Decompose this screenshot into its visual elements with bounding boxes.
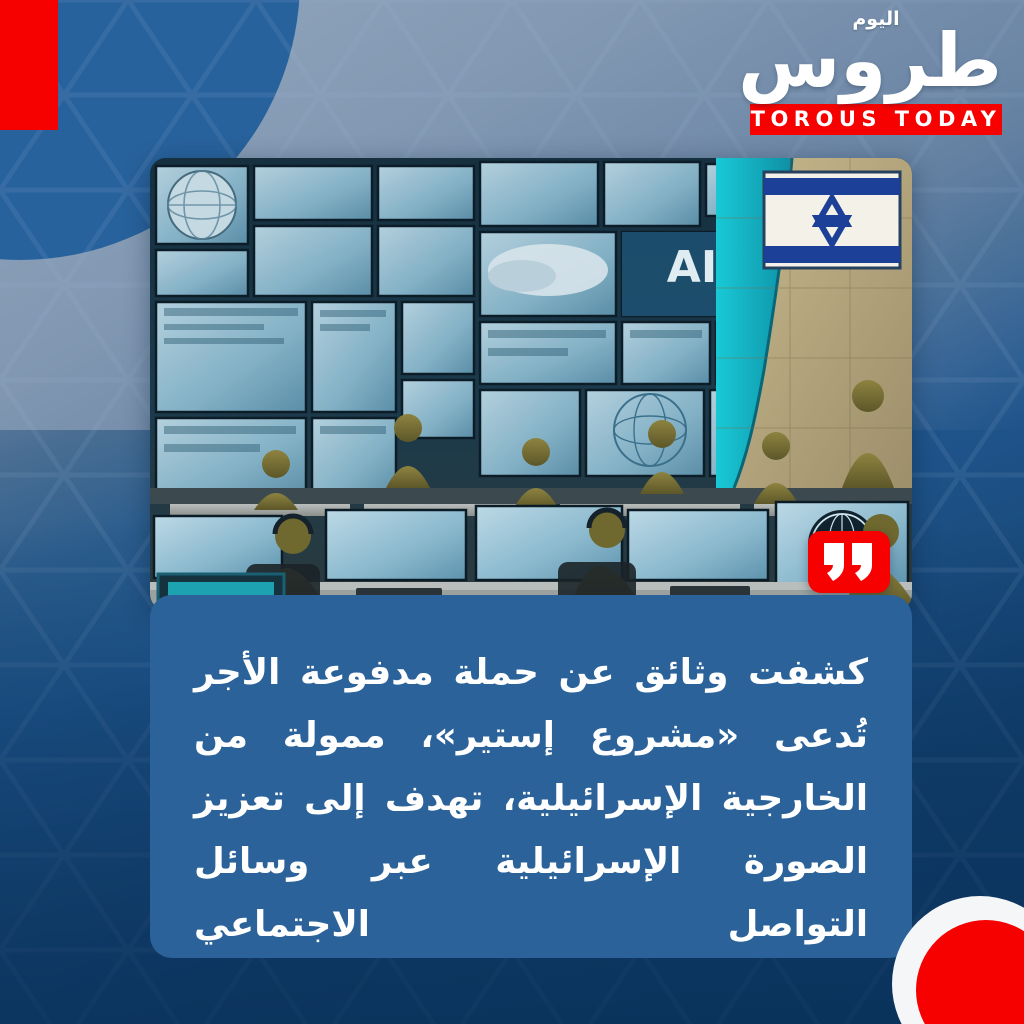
headline-text: كشفت وثائق عن حملة مدفوعة الأجر تُدعى «م…	[194, 641, 868, 956]
hero-photo: AI	[150, 158, 912, 610]
brand-logo[interactable]: اليوم طروس TOROUS TODAY	[750, 8, 1002, 135]
quote-marks-icon	[822, 543, 876, 581]
quote-badge	[808, 531, 890, 593]
brand-name-english: TOROUS TODAY	[750, 104, 1002, 135]
brand-name-arabic: طروس	[750, 24, 1002, 98]
headline-panel: كشفت وثائق عن حملة مدفوعة الأجر تُدعى «م…	[150, 595, 912, 958]
poster-canvas: اليوم طروس TOROUS TODAY	[0, 0, 1024, 1024]
israel-flag	[764, 172, 900, 268]
red-corner-block	[0, 0, 58, 130]
ai-screen-label: AI	[667, 242, 717, 293]
